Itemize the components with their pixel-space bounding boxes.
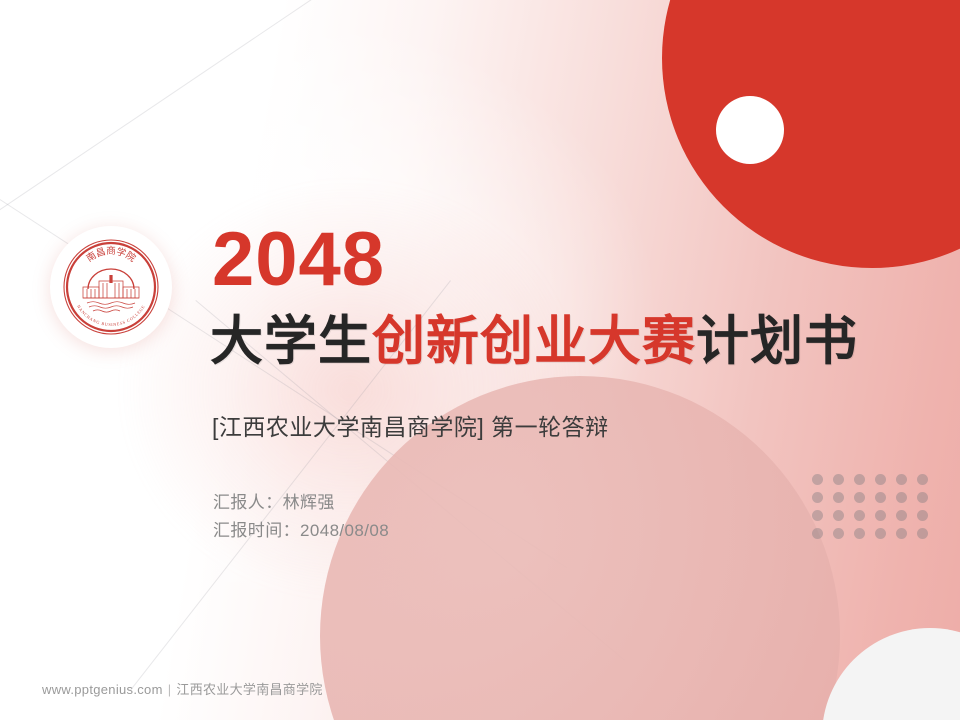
- slide-year: 2048: [212, 222, 385, 298]
- grid-dot: [896, 492, 907, 503]
- slide-meta-block: 汇报人：林辉强 汇报时间：2048/08/08: [213, 489, 389, 544]
- grid-dot: [917, 528, 928, 539]
- grid-dot: [854, 528, 865, 539]
- presenter-line: 汇报人：林辉强: [213, 489, 389, 517]
- grid-dot: [833, 492, 844, 503]
- grid-dot: [896, 510, 907, 521]
- slide-subtitle: [江西农业大学南昌商学院] 第一轮答辩: [212, 408, 609, 442]
- university-seal-icon: 南昌商学院 NANCHANG BUSINESS COLLEGE: [61, 237, 161, 337]
- grid-dot: [812, 492, 823, 503]
- presentation-slide: 南昌商学院 NANCHANG BUSINESS COLLEGE: [0, 0, 960, 720]
- white-circle-small-decoration: [716, 96, 784, 164]
- grid-dot: [812, 528, 823, 539]
- headline-part-2-accent: 创新创业大赛: [372, 312, 696, 371]
- footer-separator: |: [168, 682, 172, 697]
- grid-dot: [812, 510, 823, 521]
- grid-dot: [875, 528, 886, 539]
- grid-dot: [854, 474, 865, 485]
- grid-dot: [896, 528, 907, 539]
- university-logo: 南昌商学院 NANCHANG BUSINESS COLLEGE: [50, 226, 172, 348]
- grid-dot: [896, 474, 907, 485]
- grid-dot: [854, 510, 865, 521]
- grid-dot: [833, 474, 844, 485]
- grid-dot: [917, 474, 928, 485]
- grid-dot: [833, 528, 844, 539]
- grid-dot: [917, 492, 928, 503]
- slide-headline: 大学生创新创业大赛计划书: [210, 313, 858, 370]
- grid-dot: [917, 510, 928, 521]
- grid-dot: [854, 492, 865, 503]
- grid-dot: [812, 474, 823, 485]
- headline-part-1: 大学生: [210, 312, 372, 371]
- grid-dot: [833, 510, 844, 521]
- headline-part-3: 计划书: [696, 312, 858, 371]
- footer-website[interactable]: www.pptgenius.com: [42, 682, 163, 697]
- grid-dot: [875, 510, 886, 521]
- report-date-line: 汇报时间：2048/08/08: [213, 517, 389, 545]
- grid-dot: [875, 492, 886, 503]
- dot-grid-pattern: [812, 474, 938, 546]
- footer-organization: 江西农业大学南昌商学院: [176, 682, 322, 697]
- slide-footer: www.pptgenius.com|江西农业大学南昌商学院: [42, 679, 323, 698]
- grid-dot: [875, 474, 886, 485]
